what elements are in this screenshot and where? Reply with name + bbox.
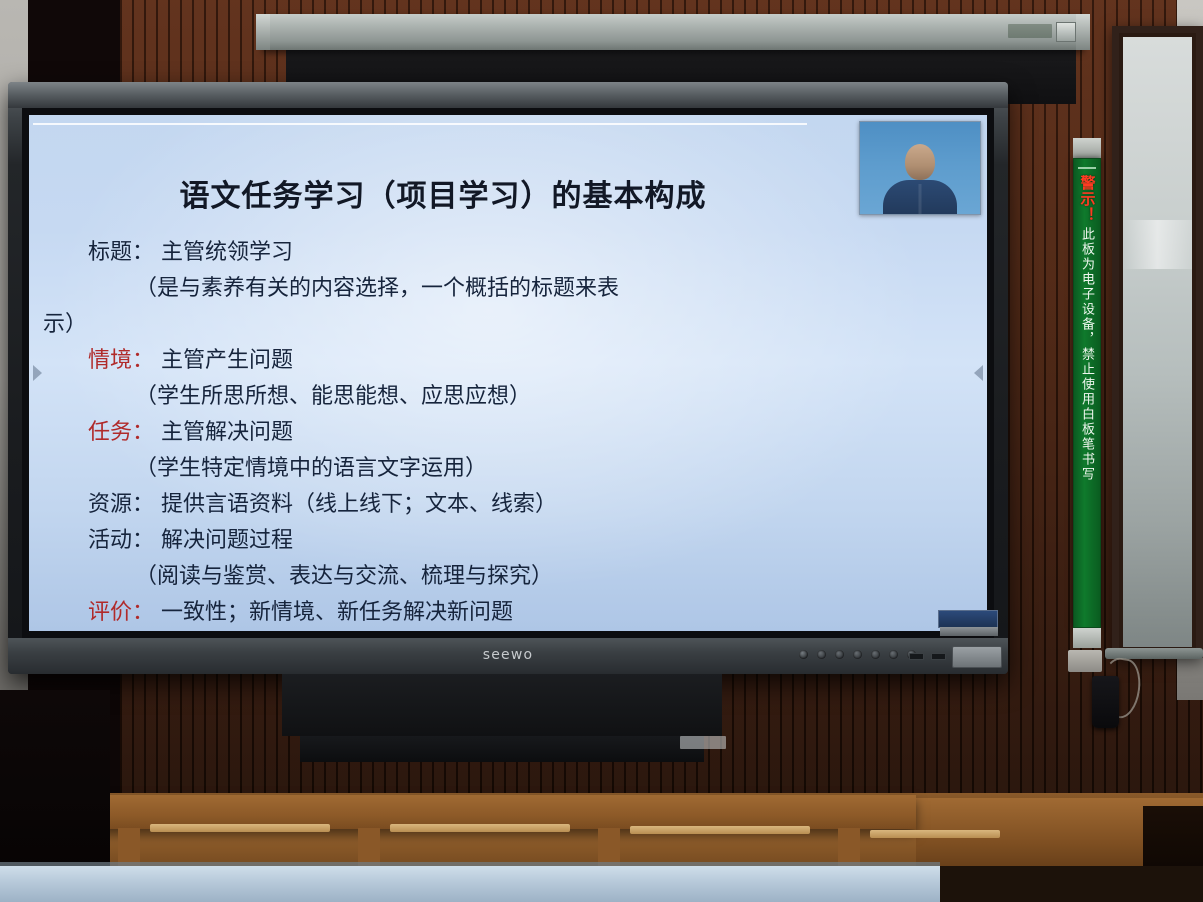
webcam-thumbnail[interactable] xyxy=(859,121,981,215)
front-table xyxy=(0,866,940,902)
display-nameplate xyxy=(952,646,1002,668)
presentation-slide[interactable]: 语文任务学习（项目学习）的基本构成 标题： 主管统领学习（是与素养有关的内容选择… xyxy=(29,115,987,631)
slide-line-text: 主管产生问题 xyxy=(154,348,293,373)
slide-line: 资源： 提供言语资料（线上线下；文本、线索） xyxy=(43,487,965,523)
slide-line-text: 提供言语资料（线上线下；文本、线索） xyxy=(154,492,557,517)
housing-end-cap-left xyxy=(256,14,270,50)
slide-line-keyword: 资源： xyxy=(88,492,154,517)
display-inner-frame: 语文任务学习（项目学习）的基本构成 标题： 主管统领学习（是与素养有关的内容选择… xyxy=(22,108,994,638)
floor-area xyxy=(940,866,1203,902)
slide-line-keyword: 活动： xyxy=(88,528,154,553)
slide-line: 活动： 解决问题过程 xyxy=(43,523,965,559)
control-button-3[interactable] xyxy=(853,650,862,659)
control-button-4[interactable] xyxy=(871,650,880,659)
slide-line-text: 主管统领学习 xyxy=(154,240,293,265)
interactive-display[interactable]: 语文任务学习（项目学习）的基本构成 标题： 主管统领学习（是与素养有关的内容选择… xyxy=(8,82,1008,674)
slide-line-keyword: 任务： xyxy=(88,420,154,445)
webcam-person-shirt-line xyxy=(919,184,922,214)
control-button-1[interactable] xyxy=(817,650,826,659)
slide-line: 任务： 主管解决问题 xyxy=(43,415,965,451)
power-button[interactable] xyxy=(799,650,808,659)
wall-mounted-device[interactable] xyxy=(1092,676,1119,728)
display-stand xyxy=(282,674,722,736)
warning-sign-rule xyxy=(1078,167,1096,169)
control-button-5[interactable] xyxy=(889,650,898,659)
slide-line-text: （学生所思所想、能思能想、应思应想） xyxy=(135,384,531,409)
wall-socket-plate xyxy=(1068,650,1102,672)
whiteboard-panel[interactable] xyxy=(1112,26,1203,658)
slide-line-keyword: 情境： xyxy=(88,348,154,373)
slide-line: 评价： 一致性；新情境、新任务解决新问题 xyxy=(43,595,965,631)
slide-line: 示） xyxy=(43,307,965,343)
classroom-scene: 警示！ 此板为电子设备，禁止使用白板笔书写 语文任务学习（项目学习）的基本构成 … xyxy=(0,0,1203,902)
warning-sign: 警示！ 此板为电子设备，禁止使用白板笔书写 xyxy=(1073,158,1101,628)
slide-right-arrow-icon[interactable] xyxy=(974,365,983,381)
projector-screen-housing[interactable] xyxy=(262,14,1084,50)
desk-edge-highlight-1 xyxy=(150,824,330,832)
slide-line: 情境： 主管产生问题 xyxy=(43,343,965,379)
slide-line: 标题： 主管统领学习 xyxy=(43,235,965,271)
housing-end-cap-right xyxy=(1076,14,1090,50)
slide-line-text: （阅读与鉴赏、表达与交流、梳理与探究） xyxy=(135,564,553,589)
display-bottom-bezel: seewo xyxy=(8,638,1008,674)
stand-label xyxy=(680,736,726,749)
slide-line: （学生所思所想、能思能想、应思应想） xyxy=(43,379,965,415)
slide-line-text: 主管解决问题 xyxy=(154,420,293,445)
display-sensor-strip-lower xyxy=(940,627,998,636)
warning-sign-cap-bottom xyxy=(1073,628,1101,648)
webcam-person-head xyxy=(905,144,935,180)
slide-line-keyword: 评价： xyxy=(88,600,154,625)
housing-tab-icon[interactable] xyxy=(1056,22,1076,42)
warning-sign-heading: 警示！ xyxy=(1077,175,1098,223)
slide-line-text: （学生特定情境中的语言文字运用） xyxy=(135,456,487,481)
desk-edge-highlight-4 xyxy=(870,830,1000,838)
warning-sign-cap-top xyxy=(1073,138,1101,158)
control-button-2[interactable] xyxy=(835,650,844,659)
whiteboard-surface xyxy=(1123,37,1192,647)
whiteboard-glare xyxy=(1123,220,1192,269)
slide-line-text: （是与素养有关的内容选择，一个概括的标题来表 xyxy=(135,276,619,301)
slide-line: （阅读与鉴赏、表达与交流、梳理与探究） xyxy=(43,559,965,595)
display-stand-base xyxy=(300,736,704,762)
port-1[interactable] xyxy=(909,653,924,660)
desk-edge-highlight-3 xyxy=(630,826,810,834)
slide-line-text: 解决问题过程 xyxy=(154,528,293,553)
desk-edge-highlight-2 xyxy=(390,824,570,832)
slide-line-keyword: 标题： xyxy=(88,240,154,265)
slide-left-arrow-icon[interactable] xyxy=(33,365,42,381)
slide-title: 语文任务学习（项目学习）的基本构成 xyxy=(29,171,987,215)
housing-label xyxy=(1008,24,1052,38)
slide-top-rule xyxy=(33,123,807,125)
warning-sign-body: 此板为电子设备，禁止使用白板笔书写 xyxy=(1074,227,1100,482)
slide-line-text: 示） xyxy=(43,312,87,337)
room-corner-shadow-left xyxy=(0,690,110,870)
slide-line: （是与素养有关的内容选择，一个概括的标题来表 xyxy=(43,271,965,307)
display-top-bezel xyxy=(8,82,1008,108)
display-sensor-strip xyxy=(938,610,998,628)
seewo-logo: seewo xyxy=(483,647,534,663)
display-control-buttons[interactable] xyxy=(799,650,916,659)
slide-line: （学生特定情境中的语言文字运用） xyxy=(43,451,965,487)
port-2[interactable] xyxy=(931,653,946,660)
slide-line-text: 一致性；新情境、新任务解决新问题 xyxy=(154,600,513,625)
slide-body: 标题： 主管统领学习（是与素养有关的内容选择，一个概括的标题来表示）情境： 主管… xyxy=(43,235,965,631)
